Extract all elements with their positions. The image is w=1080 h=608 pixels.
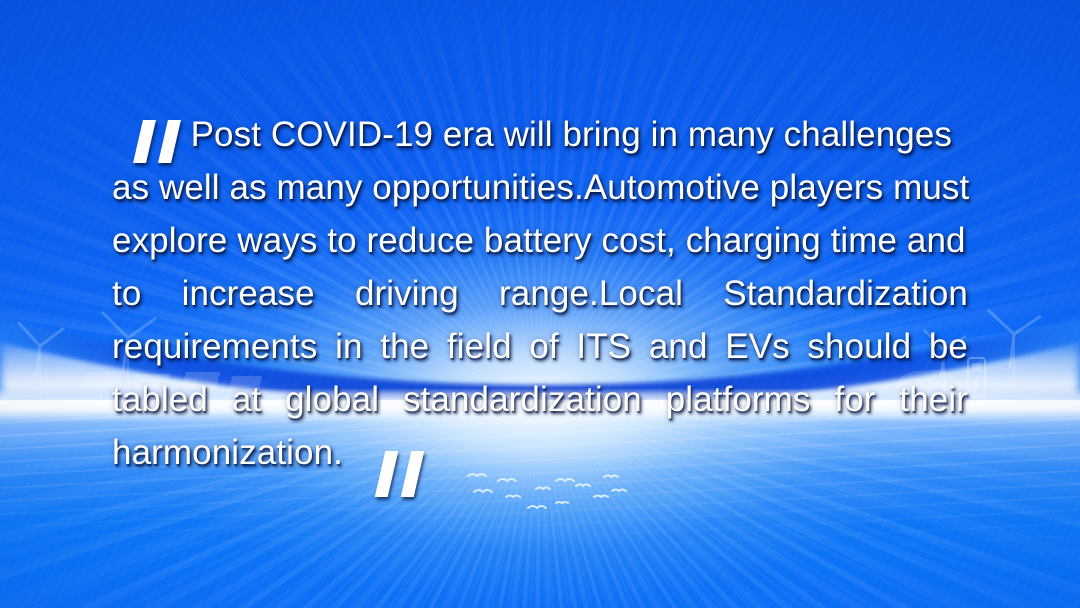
quote-line-2: as well as many opportunities.Automotive… [112,161,968,214]
quote-line-6: tabled at global standardization platfor… [112,373,968,426]
quote-line-1: Post COVID-19 era will bring in many cha… [112,108,968,161]
bird-icon [474,490,492,492]
bird-icon [498,479,516,481]
quote-line-4: to increase driving range.Local Standard… [112,267,968,320]
bird-icon [528,506,546,508]
quote-block: Post COVID-19 era will bring in many cha… [112,108,968,479]
quote-slide: Post COVID-19 era will bring in many cha… [0,0,1080,608]
bird-icon [556,502,568,503]
bird-icon [536,488,550,490]
bird-icon [556,479,574,481]
quote-line-5: requirements in the field of ITS and EVs… [112,320,968,373]
bird-icon [576,485,590,487]
bird-icon [594,496,608,498]
bird-icon [612,490,626,492]
charging-station [968,358,985,396]
quote-line-7: harmonization. [112,426,968,479]
bird-icon [506,496,520,498]
quote-line-3: explore ways to reduce battery cost, cha… [112,214,968,267]
